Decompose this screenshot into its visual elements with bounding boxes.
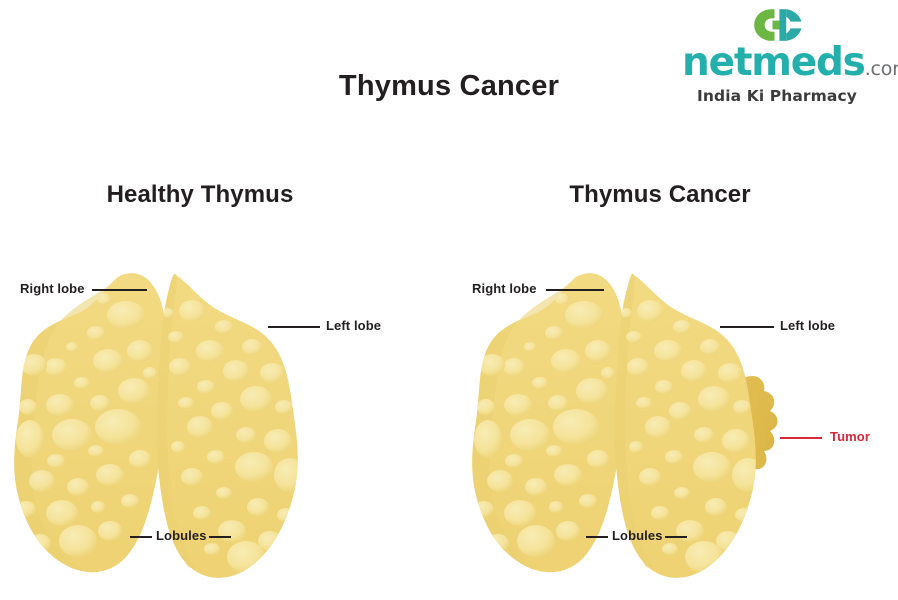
label-tumor: Tumor — [830, 429, 870, 444]
healthy-thymus-illustration — [0, 255, 420, 600]
leader-line-right-lobe — [92, 289, 147, 291]
leader-line-left-lobe — [268, 326, 320, 328]
right-lobe — [14, 273, 169, 572]
label-left-lobe: Left lobe — [780, 318, 835, 333]
netmeds-logo-mark-icon — [746, 8, 808, 42]
infographic-canvas: netmeds.com™ India Ki Pharmacy Thymus Ca… — [0, 0, 898, 600]
cancer-thymus-illustration — [458, 255, 878, 600]
leader-line-left-lobe — [720, 326, 774, 328]
page-title: Thymus Cancer — [0, 70, 898, 103]
label-lobules: Lobules — [156, 528, 207, 543]
label-left-lobe: Left lobe — [326, 318, 381, 333]
leader-line-tumor — [780, 437, 822, 439]
label-right-lobe: Right lobe — [20, 281, 85, 296]
leader-line-lobules-right — [665, 536, 687, 538]
label-lobules: Lobules — [612, 528, 663, 543]
panel-title-cancer: Thymus Cancer — [500, 181, 820, 209]
leader-line-lobules-right — [209, 536, 231, 538]
diagram-healthy-thymus: Right lobe Left lobe Lobules — [0, 255, 420, 600]
leader-line-right-lobe — [546, 289, 604, 291]
label-right-lobe: Right lobe — [472, 281, 537, 296]
right-lobe — [472, 273, 627, 572]
leader-line-lobules-left — [130, 536, 152, 538]
panel-title-healthy: Healthy Thymus — [40, 181, 360, 209]
leader-line-lobules-left — [586, 536, 608, 538]
diagram-thymus-cancer: Right lobe Left lobe Lobules Tumor — [458, 255, 878, 600]
